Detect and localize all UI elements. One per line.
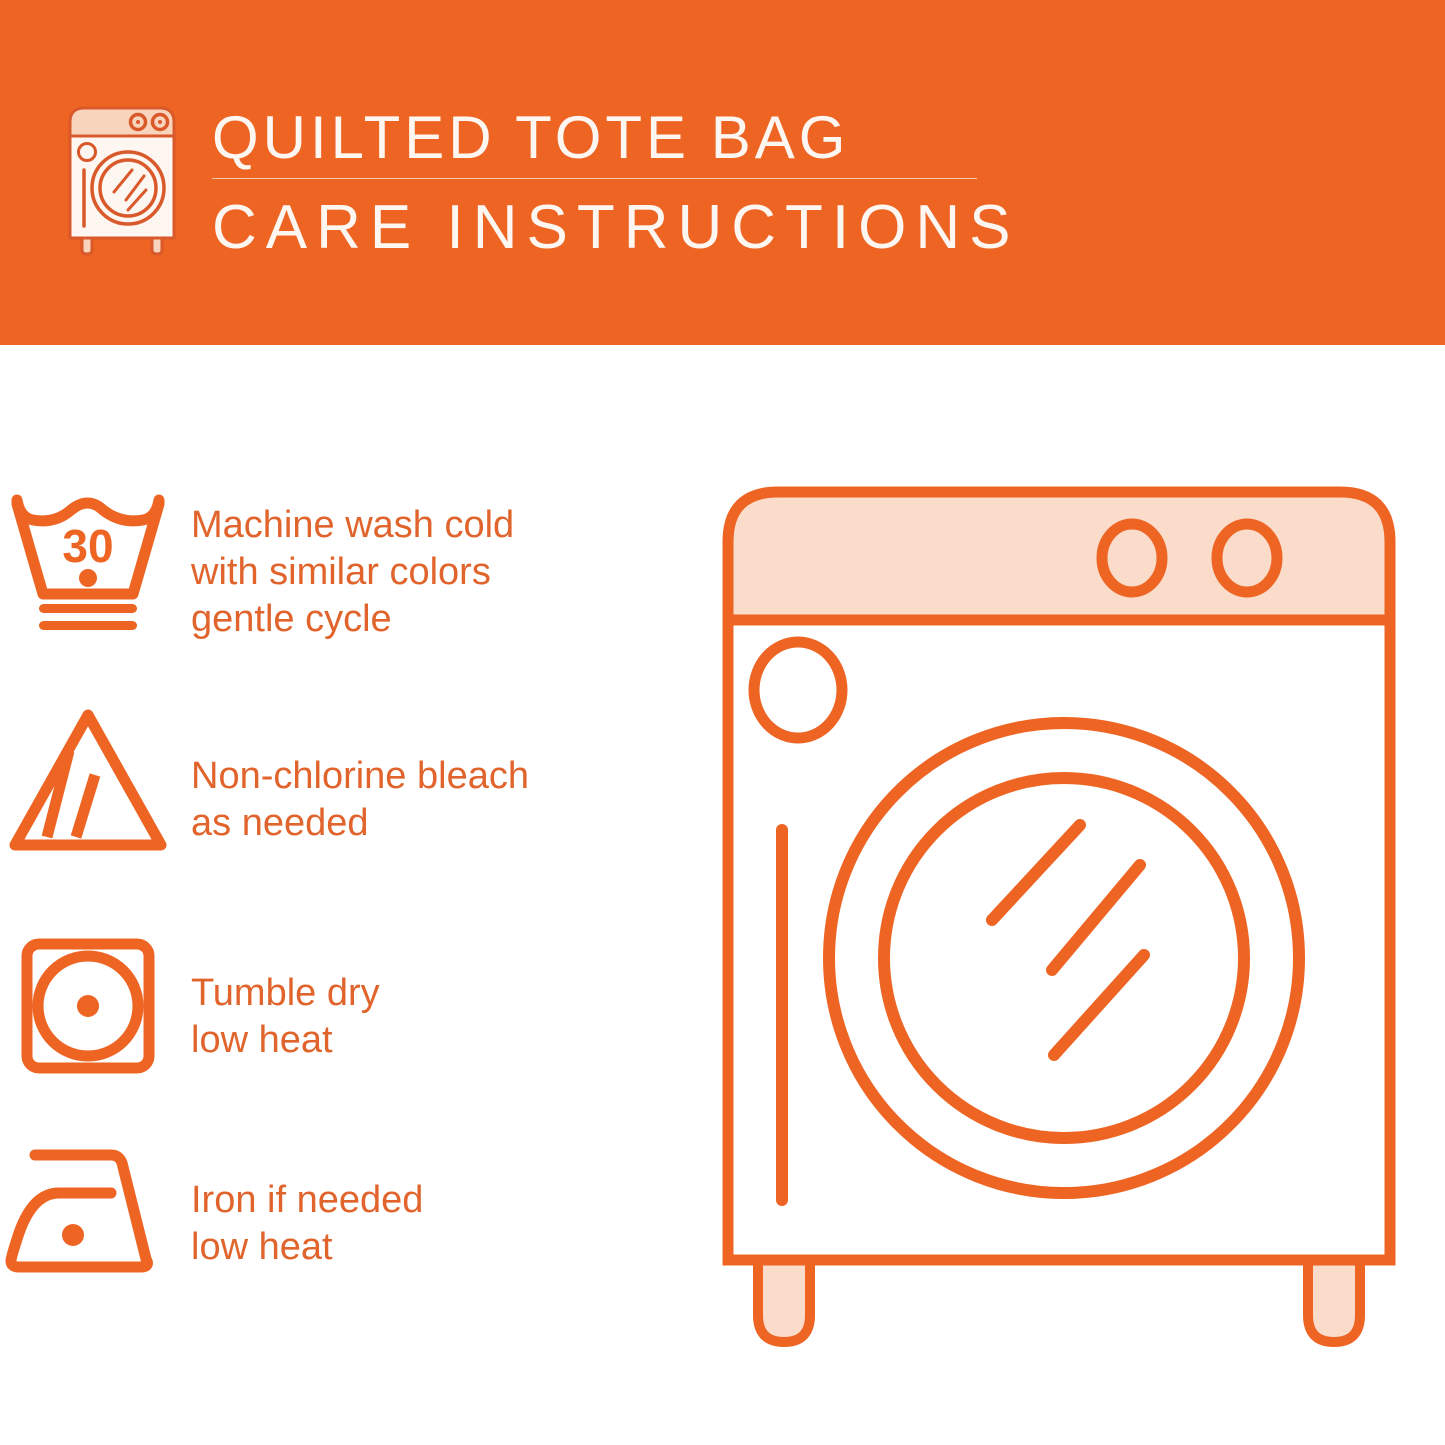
machine-control-panel xyxy=(728,492,1390,620)
wash-basin-icon: 30 xyxy=(0,490,175,640)
care-label-bleach: Non-chlorine bleach as needed xyxy=(175,705,680,847)
washing-machine-illustration xyxy=(712,470,1412,1370)
care-instruction-list: 30 Machine wash cold with similar colors… xyxy=(0,345,700,1445)
care-row-bleach: Non-chlorine bleach as needed xyxy=(0,705,680,855)
washing-machine-icon xyxy=(62,104,182,256)
header-banner: QUILTED TOTE BAG CARE INSTRUCTIONS xyxy=(0,0,1445,345)
care-label-tumble-dry: Tumble dry low heat xyxy=(175,930,680,1064)
iron-icon xyxy=(0,1135,175,1285)
bleach-triangle-icon xyxy=(0,705,175,855)
care-row-wash: 30 Machine wash cold with similar colors… xyxy=(0,490,680,643)
header-text-block: QUILTED TOTE BAG CARE INSTRUCTIONS xyxy=(212,102,1002,265)
machine-feet xyxy=(758,1260,1360,1342)
tumble-dry-icon xyxy=(0,930,175,1080)
title-divider xyxy=(212,178,977,179)
care-instructions-page: QUILTED TOTE BAG CARE INSTRUCTIONS 30 xyxy=(0,0,1445,1445)
care-label-wash: Machine wash cold with similar colors ge… xyxy=(175,490,680,643)
wash-temperature-value: 30 xyxy=(62,520,113,572)
care-label-iron: Iron if needed low heat xyxy=(175,1135,680,1271)
page-title: QUILTED TOTE BAG xyxy=(212,102,1002,174)
care-row-iron: Iron if needed low heat xyxy=(0,1135,680,1285)
care-row-tumble-dry: Tumble dry low heat xyxy=(0,930,680,1080)
page-subtitle: CARE INSTRUCTIONS xyxy=(212,191,1002,265)
